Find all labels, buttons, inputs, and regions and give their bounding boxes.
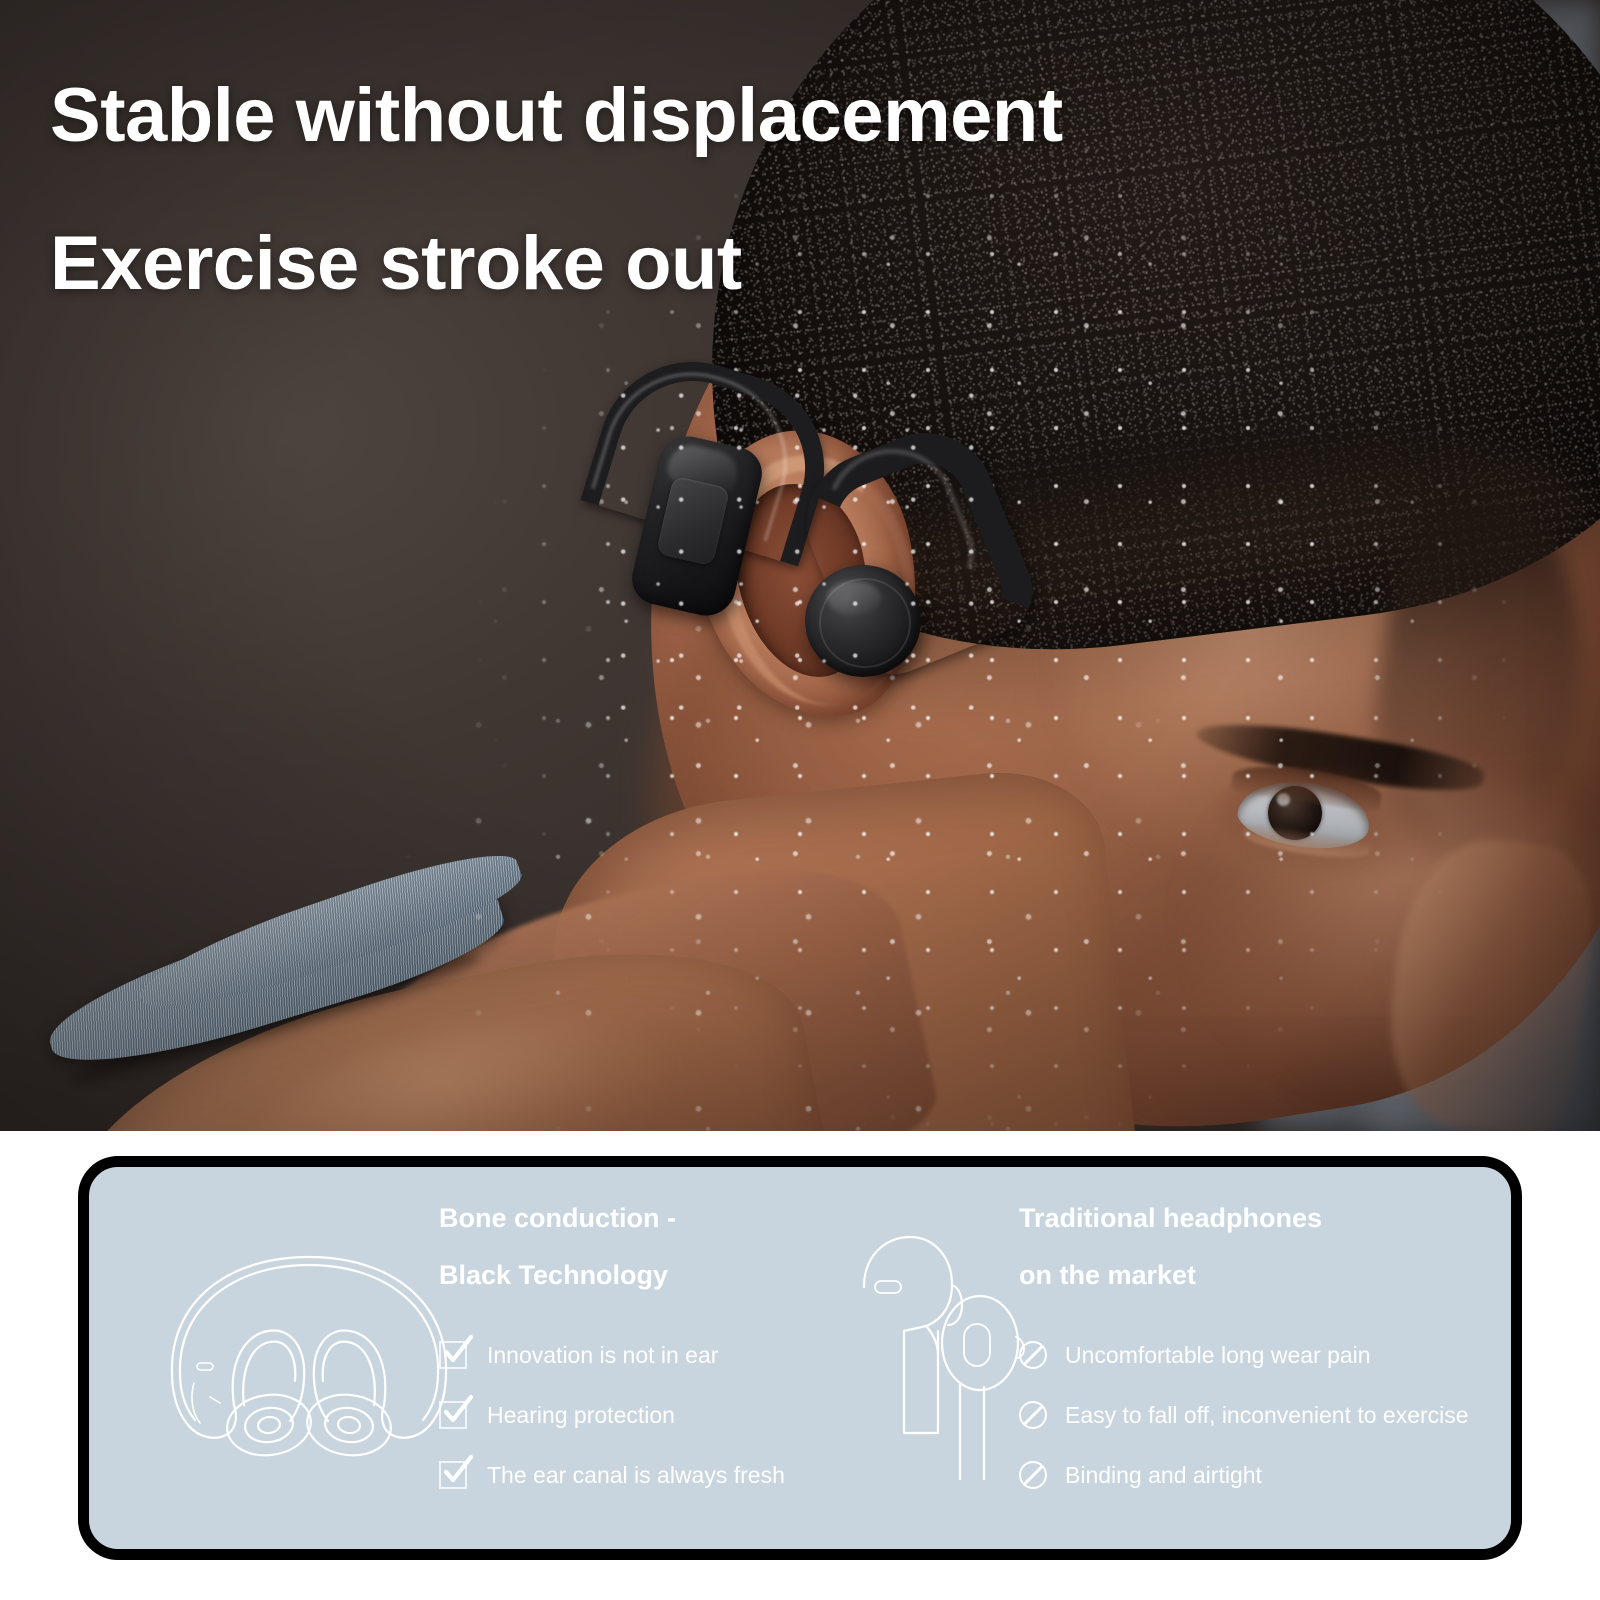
feature-row: The ear canal is always fresh: [439, 1445, 1039, 1505]
feature-label: Uncomfortable long wear pain: [1065, 1344, 1371, 1367]
feature-label: Binding and airtight: [1065, 1464, 1262, 1487]
check-icon: [439, 1338, 473, 1372]
feature-label: The ear canal is always fresh: [487, 1464, 785, 1487]
headline-line-2: Exercise stroke out: [50, 226, 1300, 302]
feature-row: Binding and airtight: [1019, 1445, 1519, 1505]
feature-row: Easy to fall off, inconvenient to exerci…: [1019, 1385, 1519, 1445]
feature-list-traditional: Uncomfortable long wear pain Easy to fal…: [1019, 1325, 1519, 1505]
column-title-line-2: on the market: [1019, 1262, 1519, 1289]
feature-label: Hearing protection: [487, 1404, 675, 1427]
hero-photo: Stable without displacement Exercise str…: [0, 0, 1600, 1131]
column-title-line-1: Bone conduction -: [439, 1203, 676, 1233]
transducer-gloss: [827, 581, 881, 615]
column-title-line-1: Traditional headphones: [1019, 1203, 1322, 1233]
module-button: [656, 475, 731, 566]
prohibited-icon: [1019, 1399, 1051, 1431]
column-title-bone-conduction: Bone conduction - Black Technology: [439, 1205, 1039, 1289]
comparison-panel: Bone conduction - Black Technology Innov…: [78, 1156, 1522, 1560]
prohibited-icon: [1019, 1339, 1051, 1371]
column-bone-conduction: Bone conduction - Black Technology Innov…: [439, 1205, 1039, 1505]
feature-row: Innovation is not in ear: [439, 1325, 1039, 1385]
column-title-traditional: Traditional headphones on the market: [1019, 1205, 1519, 1289]
column-title-line-2: Black Technology: [439, 1262, 1039, 1289]
prohibited-icon: [1019, 1459, 1051, 1491]
column-traditional-headphones: Traditional headphones on the market Unc…: [1019, 1205, 1519, 1505]
feature-row: Hearing protection: [439, 1385, 1039, 1445]
headline-line-1: Stable without displacement: [50, 78, 1300, 154]
headline: Stable without displacement Exercise str…: [50, 78, 1300, 302]
feature-label: Easy to fall off, inconvenient to exerci…: [1065, 1404, 1469, 1427]
feature-row: Uncomfortable long wear pain: [1019, 1325, 1519, 1385]
headphone-transducer-pad: [805, 565, 921, 677]
bone-conduction-headset-icon: [164, 1245, 454, 1460]
feature-list-bone-conduction: Innovation is not in ear Hearing protect…: [439, 1325, 1039, 1505]
check-icon: [439, 1398, 473, 1432]
check-icon: [439, 1458, 473, 1492]
feature-label: Innovation is not in ear: [487, 1344, 718, 1367]
